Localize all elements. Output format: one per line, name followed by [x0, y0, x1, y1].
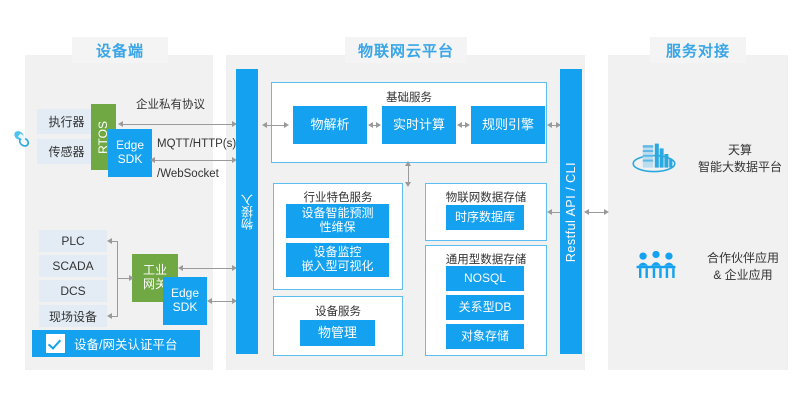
ingress-basic-arrow-left: [262, 122, 267, 128]
industry-service-item-0-label: 设备智能预测 性维保: [301, 207, 373, 235]
service-item-0-label: 天算 智能大数据平台: [688, 142, 792, 177]
storage-api-arrow-left: [547, 209, 552, 215]
field-device-box[interactable]: 现场设备: [39, 305, 107, 327]
ingress-bar-label: 物接入: [239, 194, 256, 230]
dcs-label: DCS: [60, 284, 85, 298]
ingress-basic-arrow-right: [284, 122, 289, 128]
service-panel-background: [608, 55, 788, 370]
general-storage-title: 通用型数据存储: [426, 251, 546, 267]
api-service-arrow-right: [604, 209, 609, 215]
mqtt-protocol-text-2: /WebSocket: [157, 168, 219, 180]
basic-to-lower-arrow-down: [405, 182, 411, 187]
service-item-1-line2: & 企业应用: [688, 267, 798, 284]
api-service-line: [586, 212, 606, 213]
auth-platform-box[interactable]: 设备/网关认证平台: [32, 330, 200, 357]
edge-sdk-top-label: Edge SDK: [116, 139, 144, 167]
general-storage-item-1[interactable]: 关系型DB: [446, 295, 524, 320]
iot-storage-item-0[interactable]: 时序数据库: [446, 205, 524, 230]
scada-label: SCADA: [52, 259, 93, 273]
plc-box[interactable]: PLC: [39, 230, 107, 252]
edge-sdk-bottom-box[interactable]: Edge SDK: [163, 277, 207, 325]
mqtt-arrow-left: [150, 157, 155, 163]
plc-label: PLC: [61, 234, 84, 248]
mqtt-protocol-line: [152, 160, 235, 161]
basic-service-title-text: 基础服务: [386, 92, 432, 104]
general-storage-item-2[interactable]: 对象存储: [446, 324, 524, 349]
device-service-item-0[interactable]: 物管理: [300, 320, 375, 346]
api-service-arrow-left: [584, 209, 589, 215]
private-protocol-text: 企业私有协议: [136, 99, 205, 111]
device-bracket-top-arrow: [107, 238, 112, 244]
partners-meeting-icon: [630, 248, 682, 282]
general-storage-item-0-label: NOSQL: [464, 272, 506, 286]
service-item-1-line1: 合作伙伴应用: [688, 250, 798, 267]
basic-service-item-2-label: 规则引擎: [482, 118, 534, 133]
general-storage-item-2-label: 对象存储: [461, 330, 509, 344]
mqtt-protocol-text-1: MQTT/HTTP(s): [157, 138, 236, 150]
device-bracket-bottom-arrow: [107, 313, 112, 319]
basic-service-item-1[interactable]: 实时计算: [382, 106, 456, 144]
basic-service-item-0[interactable]: 物解析: [293, 106, 367, 144]
industry-service-title-text: 行业特色服务: [304, 192, 373, 204]
general-storage-item-0[interactable]: NOSQL: [446, 266, 524, 291]
auth-platform-label: 设备/网关认证平台: [74, 334, 177, 353]
service-panel-title: 服务对接: [650, 37, 746, 63]
gateway-uplink-line: [180, 268, 235, 269]
basic-service-item-1-label: 实时计算: [393, 118, 445, 133]
ingress-bar[interactable]: 物接入: [236, 69, 258, 354]
private-protocol-arrow-left: [118, 121, 123, 127]
service-item-0-line1: 天算: [688, 142, 792, 159]
service-item-1-label: 合作伙伴应用 & 企业应用: [688, 250, 798, 285]
general-storage-title-text: 通用型数据存储: [446, 254, 527, 266]
basic-service-item-2b[interactable]: 规则引擎: [471, 106, 545, 144]
basic-conn-a-left: [368, 122, 373, 128]
check-icon: [46, 334, 65, 353]
device-service-item-0-label: 物管理: [318, 326, 357, 341]
industry-service-item-0[interactable]: 设备智能预测 性维保: [286, 204, 389, 238]
device-service-title: 设备服务: [274, 303, 402, 319]
cloud-panel-title-text: 物联网云平台: [358, 40, 454, 61]
mqtt-protocol-label-line1: MQTT/HTTP(s): [157, 138, 236, 150]
edge-sdk-bottom-label: Edge SDK: [171, 287, 199, 315]
iot-storage-title-text: 物联网数据存储: [446, 192, 527, 204]
ingress-basic-line: [264, 125, 286, 126]
actuator-label: 执行器: [48, 113, 84, 130]
restful-api-bar[interactable]: Restful API / CLI: [560, 69, 582, 354]
mqtt-protocol-label-line2: /WebSocket: [157, 168, 219, 180]
actuator-box[interactable]: 执行器: [37, 109, 96, 134]
iot-storage-title: 物联网数据存储: [426, 189, 546, 205]
basic-service-title: 基础服务: [272, 89, 546, 105]
iot-storage-item-0-label: 时序数据库: [455, 211, 515, 225]
edge-sdk-uplink-arrow-left: [207, 298, 212, 304]
basic-service-item-0-label: 物解析: [310, 118, 349, 133]
dcs-box[interactable]: DCS: [39, 280, 107, 302]
device-panel-title: 设备端: [72, 37, 168, 63]
service-item-0-line2: 智能大数据平台: [688, 159, 792, 176]
device-service-title-text: 设备服务: [315, 306, 361, 318]
big-data-platform-icon: [630, 138, 678, 178]
device-panel-title-text: 设备端: [96, 40, 144, 61]
scada-box[interactable]: SCADA: [39, 255, 107, 277]
architecture-diagram: 设备端 物联网云平台 服务对接 执行器 传感器 RTOS Edge SDK 企业…: [0, 0, 802, 411]
basic-conn-b-right: [465, 122, 470, 128]
basic-api-arrow-left: [547, 122, 552, 128]
basic-conn-a-right: [376, 122, 381, 128]
industry-service-item-1-label: 设备监控 嵌入型可视化: [301, 246, 373, 274]
field-device-label: 现场设备: [49, 308, 97, 325]
sensor-box[interactable]: 传感器: [37, 139, 96, 164]
link-cloud-icon: [10, 127, 34, 151]
basic-to-lower-arrow-up: [405, 161, 411, 166]
sensor-label: 传感器: [48, 143, 84, 160]
gateway-uplink-arrow-left: [178, 265, 183, 271]
service-panel-title-text: 服务对接: [666, 40, 730, 61]
private-protocol-line: [120, 124, 235, 125]
cloud-panel-title: 物联网云平台: [345, 37, 467, 63]
basic-conn-b-left: [457, 122, 462, 128]
private-protocol-label: 企业私有协议: [136, 96, 205, 112]
general-storage-item-1-label: 关系型DB: [459, 301, 512, 315]
device-bracket-mid-arrow: [129, 275, 134, 281]
edge-sdk-top-box[interactable]: Edge SDK: [108, 129, 152, 177]
industry-service-title: 行业特色服务: [274, 189, 402, 205]
restful-api-bar-label: Restful API / CLI: [564, 161, 578, 261]
basic-to-lower-line: [408, 164, 409, 184]
industry-service-item-1[interactable]: 设备监控 嵌入型可视化: [286, 243, 389, 277]
